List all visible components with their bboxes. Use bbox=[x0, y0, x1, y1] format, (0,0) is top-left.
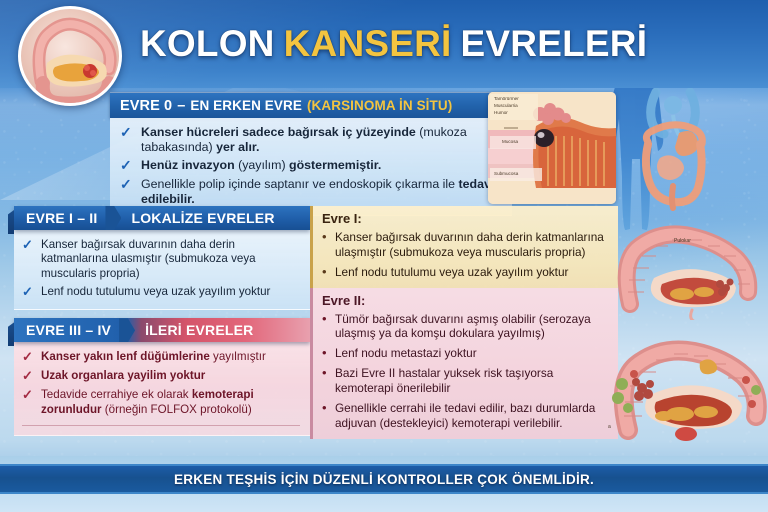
title-word-3: EVRELERİ bbox=[461, 23, 648, 65]
stage-0-gold-note: (KARSINOMA İN SİTU) bbox=[307, 98, 452, 113]
stage-1-2-header: EVRE I – II LOKALİZE EVRELER bbox=[14, 206, 310, 230]
left-column: EVRE I – II LOKALİZE EVRELER ✓ Kanser ba… bbox=[14, 206, 310, 444]
stage-0-item-2: Henüz invazyon (yayılım) göstermemiştir. bbox=[141, 158, 381, 173]
stage-0-tag: EVRE 0 bbox=[120, 98, 172, 114]
list-item: • Bazi Evre II hastalar yuksek risk taşı… bbox=[322, 366, 608, 396]
stage-1-2-section: EVRE I – II LOKALİZE EVRELER ✓ Kanser ba… bbox=[14, 206, 310, 310]
illustration-2-label: a bbox=[608, 424, 611, 430]
stage-1-detail-item-1: Kanser bağırsak duvarının daha derin kat… bbox=[335, 230, 608, 260]
stage-2-detail-item-1: Tümör bağırsak duvarını aşmış olabilir (… bbox=[335, 312, 608, 342]
colon-illustration-icon bbox=[18, 6, 122, 106]
bullet-icon: • bbox=[322, 366, 329, 396]
intestinal-wall-cross-section-icon: Tamörürmer Muscularria Humor Mucosa Subm… bbox=[488, 92, 616, 204]
stage-0-body: ✓ Kanser hücreleri sadece bağırsak iç yü… bbox=[110, 118, 512, 216]
list-item: ✓ Tedavide cerrahiye ek olarak kemoterap… bbox=[22, 388, 300, 417]
check-icon: ✓ bbox=[22, 350, 34, 365]
list-item: ✓ Kanser hücreleri sadece bağırsak iç yü… bbox=[120, 125, 502, 155]
list-item: ✓ Uzak organlara yayilim yoktur bbox=[22, 369, 300, 384]
page-title: KOLON KANSERİ EVRELERİ bbox=[140, 16, 620, 72]
check-icon: ✓ bbox=[120, 125, 133, 155]
check-icon: ✓ bbox=[120, 158, 133, 173]
bullet-icon: • bbox=[322, 401, 329, 431]
stage-1-2-tag: EVRE I – II bbox=[14, 210, 107, 226]
stage-0-dash: – bbox=[177, 98, 185, 114]
stage-3-4-label: İLERİ EVRELER bbox=[135, 322, 253, 338]
list-item: • Genellikle cerrahi ile tedavi edilir, … bbox=[322, 401, 608, 431]
stage-3-4-header: EVRE III – IV İLERİ EVRELER bbox=[14, 318, 310, 342]
stage-2-detail-body: • Tümör bağırsak duvarını aşmış olabilir… bbox=[313, 311, 618, 439]
colon-advanced-tumor-illustration-icon: a bbox=[606, 330, 768, 450]
histology-label-4: Mucosa bbox=[502, 139, 518, 145]
bullet-icon: • bbox=[322, 346, 329, 361]
check-icon: ✓ bbox=[22, 238, 34, 281]
bullet-icon: • bbox=[322, 312, 329, 342]
stage-0-item-3: Genellikle polip içinde saptanır ve endo… bbox=[141, 177, 502, 207]
stage-3-4-tag: EVRE III – IV bbox=[14, 322, 121, 338]
stage-1-detail-item-2: Lenf nodu tutulumu veya uzak yayılım yok… bbox=[335, 265, 568, 280]
illustration-1-label: Pulokar bbox=[674, 238, 691, 244]
stage-2-detail-item-4: Genellikle cerrahi ile tedavi edilir, ba… bbox=[335, 401, 608, 431]
chevron-right-icon bbox=[119, 318, 135, 342]
stage-0-item-1: Kanser hücreleri sadece bağırsak iç yüze… bbox=[141, 125, 502, 155]
title-word-1: KOLON bbox=[140, 23, 275, 65]
stage-0-section: EVRE 0 – EN ERKEN EVRE (KARSINOMA İN SİT… bbox=[110, 92, 512, 216]
check-icon: ✓ bbox=[22, 388, 34, 417]
divider bbox=[22, 425, 300, 426]
stage-0-header: EVRE 0 – EN ERKEN EVRE (KARSINOMA İN SİT… bbox=[110, 92, 512, 118]
title-word-2: KANSERİ bbox=[284, 23, 452, 65]
list-item: ✓ Kanser yakın lenf düğümlerine yayılmış… bbox=[22, 350, 300, 365]
list-item: • Kanser bağırsak duvarının daha derin k… bbox=[322, 230, 608, 260]
footer-message: ERKEN TEŞHİS İÇİN DÜZENLİ KONTROLLER ÇOK… bbox=[174, 472, 594, 487]
list-item: • Tümör bağırsak duvarını aşmış olabilir… bbox=[322, 312, 608, 342]
stage-2-detail-panel: Evre II: • Tümör bağırsak duvarını aşmış… bbox=[310, 288, 618, 439]
stage-3-4-item-3: Tedavide cerrahiye ek olarak kemoterapi … bbox=[41, 388, 300, 417]
footer-banner: ERKEN TEŞHİS İÇİN DÜZENLİ KONTROLLER ÇOK… bbox=[0, 464, 768, 494]
histology-label-5: Submucosa bbox=[494, 171, 518, 177]
stage-1-2-label: LOKALİZE EVRELER bbox=[121, 210, 274, 226]
infographic-stage: KOLON KANSERİ EVRELERİ EVRE 0 – EN ERKEN… bbox=[0, 0, 768, 512]
stage-3-4-section: EVRE III – IV İLERİ EVRELER ✓ Kanser yak… bbox=[14, 318, 310, 436]
stage-3-4-item-2: Uzak organlara yayilim yoktur bbox=[41, 369, 205, 384]
stage-1-detail-panel: Evre I: • Kanser bağırsak duvarının daha… bbox=[310, 206, 618, 288]
footer-area: ERKEN TEŞHİS İÇİN DÜZENLİ KONTROLLER ÇOK… bbox=[0, 456, 768, 512]
stage-2-detail-item-2: Lenf nodu metastazi yoktur bbox=[335, 346, 477, 361]
stage-1-detail-title: Evre I: bbox=[313, 206, 618, 229]
histology-label-3: Humor bbox=[494, 110, 508, 116]
list-item: • Lenf nodu tutulumu veya uzak yayılım y… bbox=[322, 265, 608, 280]
stage-1-detail-body: • Kanser bağırsak duvarının daha derin k… bbox=[313, 229, 618, 288]
chevron-right-icon bbox=[105, 206, 121, 230]
list-item: ✓ Lenf nodu tutulumu veya uzak yayılım y… bbox=[22, 285, 300, 300]
histology-label-1: Tamörürmer bbox=[494, 96, 519, 102]
stage-1-2-item-2: Lenf nodu tutulumu veya uzak yayılım yok… bbox=[41, 285, 270, 300]
stage-3-4-body: ✓ Kanser yakın lenf düğümlerine yayılmış… bbox=[14, 342, 310, 436]
bullet-icon: • bbox=[322, 230, 329, 260]
stage-2-detail-title: Evre II: bbox=[313, 288, 618, 311]
right-column: Evre I: • Kanser bağırsak duvarının daha… bbox=[310, 206, 618, 439]
colon-polyp-illustration-icon: Pulokar bbox=[616, 218, 768, 320]
bullet-icon: • bbox=[322, 265, 329, 280]
stage-3-4-item-1: Kanser yakın lenf düğümlerine yayılmıştı… bbox=[41, 350, 266, 365]
histology-label-2: Muscularria bbox=[494, 103, 518, 109]
stage-1-2-item-1: Kanser bağırsak duvarının daha derin kat… bbox=[41, 238, 300, 281]
check-icon: ✓ bbox=[22, 369, 34, 384]
check-icon: ✓ bbox=[120, 177, 133, 207]
check-icon: ✓ bbox=[22, 285, 34, 300]
stage-1-2-body: ✓ Kanser bağırsak duvarının daha derin k… bbox=[14, 230, 310, 310]
stage-0-subtitle: EN ERKEN EVRE bbox=[190, 98, 302, 113]
list-item: ✓ Henüz invazyon (yayılım) göstermemişti… bbox=[120, 158, 502, 173]
list-item: • Lenf nodu metastazi yoktur bbox=[322, 346, 608, 361]
stage-2-detail-item-3: Bazi Evre II hastalar yuksek risk taşıyo… bbox=[335, 366, 608, 396]
list-item: ✓ Kanser bağırsak duvarının daha derin k… bbox=[22, 238, 300, 281]
list-item: ✓ Genellikle polip içinde saptanır ve en… bbox=[120, 177, 502, 207]
